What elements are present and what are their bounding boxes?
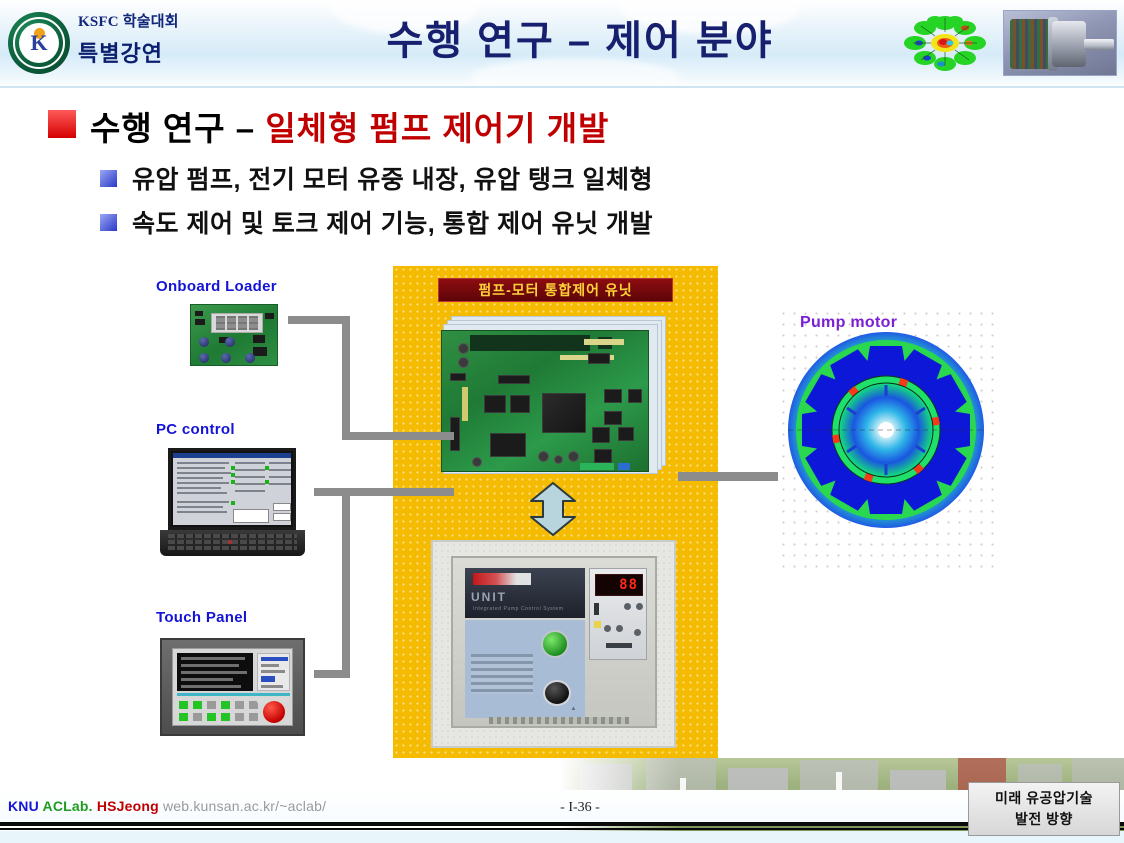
emergency-stop-button[interactable] [263,701,285,723]
conference-name: KSFC 학술대회 [78,10,179,31]
logo-mark: K [19,23,59,63]
pump-motor-fem-plot [778,308,998,568]
bullet-square-level2 [100,214,117,231]
label-onboard-loader: Onboard Loader [156,278,277,295]
connector-unit-to-motor [678,472,778,481]
footer-rule-thick [0,822,1124,826]
ksfc-logo: K [8,12,70,74]
session-name: 특별강연 [78,36,163,68]
unit-rotary-knob[interactable] [543,680,571,706]
label-pc-control: PC control [156,421,235,438]
bullet-level2-text-1: 유압 펌프, 전기 모터 유중 내장, 유압 탱크 일체형 [132,160,653,196]
theme-badge-line2: 발전 방향 [1015,809,1073,830]
onboard-loader-device [190,304,278,366]
footer-author: HSJeong [97,798,159,814]
theme-badge: 미래 유공압기술 발전 방향 [968,782,1120,836]
bullet-main-black: 수행 연구 – [90,110,265,147]
footer-credit: KNU ACLab. HSJeong web.kunsan.ac.kr/~acl… [8,798,326,814]
controller-pcb-stack [441,316,666,476]
pc-control-laptop [160,448,305,560]
system-diagram: 펌프-모터 통합제어 유닛 [138,266,1018,758]
slide-title: 수행 연구 – 제어 분야 [300,14,860,68]
connector-tp-v [342,488,350,678]
connector-loader-v [342,316,350,440]
bullet-level1-text: 수행 연구 – 일체형 펌프 제어기 개발 [90,102,609,150]
unit-brand-label: UNIT [471,590,579,604]
header-divider [0,86,1124,88]
footer-aclab: ACLab. [43,798,93,814]
touch-panel-device [160,638,305,736]
slide-header: K KSFC 학술대회 특별강연 수행 연구 – 제어 분야 [0,0,1124,88]
unit-green-button[interactable] [541,630,569,658]
unit-brand-sublabel: Integrated Pump Control System [473,606,564,612]
page-number: - I-36 - [520,800,640,816]
bullet-square-level1 [48,110,76,138]
unit-seven-segment-display: 88 [619,578,638,592]
pump-motor-photo [1003,10,1117,76]
footer-tail-band [0,831,1124,843]
integrated-control-unit-photo: UNIT Integrated Pump Control System ▲ 88 [431,540,676,748]
controller-pcb [441,330,649,472]
footer-knu: KNU [8,798,39,814]
loader-seven-segment [211,313,263,333]
bullet-main-red: 일체형 펌프 제어기 개발 [265,110,609,147]
unit-maker-mark: ▲ [571,706,577,712]
label-touch-panel: Touch Panel [156,609,247,626]
motor-fem-flower-icon [893,12,998,74]
connector-pc-h [314,488,454,496]
unit-banner: 펌프-모터 통합제어 유닛 [438,278,673,302]
connector-tp-h [314,670,350,678]
connector-loader-h1 [288,316,350,324]
theme-badge-line1: 미래 유공압기술 [995,788,1093,809]
bidirectional-arrow-icon [527,481,579,537]
bullet-level2-text-2: 속도 제어 및 토크 제어 기능, 통합 제어 유닛 개발 [132,204,653,240]
bullet-square-level2 [100,170,117,187]
connector-loader-h2 [342,432,454,440]
footer-rule-thin [0,828,1124,830]
footer-url: web.kunsan.ac.kr/~aclab/ [163,798,326,814]
